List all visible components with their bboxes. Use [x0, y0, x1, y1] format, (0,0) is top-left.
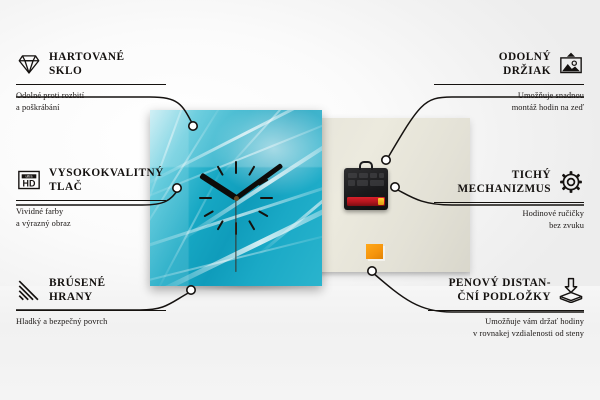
feature-title: VYSOKOKVALITNÝ TLAČ: [49, 166, 164, 195]
title-line-1: VYSOKOKVALITNÝ: [49, 166, 164, 180]
title-line-2: TLAČ: [49, 180, 164, 194]
divider: [16, 200, 166, 201]
hd-label: HD: [23, 179, 36, 189]
feature-header: HARTOVANÉ SKLO: [16, 50, 166, 79]
feature-title: TICHÝ MECHANIZMUS: [458, 168, 551, 197]
feature-header: BRÚSENÉ HRANY: [16, 276, 166, 305]
feature-description: Umožňuje vám držať hodiny v rovnakej vzd…: [428, 316, 584, 340]
title-line-1: ODOLNÝ: [499, 50, 551, 64]
desc-line-1: Umožňuje vám držať hodiny: [428, 316, 584, 328]
mechanism-hook-icon: [359, 161, 373, 170]
title-line-2: HRANY: [49, 290, 106, 304]
desc-line-1: Vividné farby: [16, 206, 166, 218]
foam-spacer-pad: [366, 244, 383, 259]
feature-title: ODOLNÝ DRŽIAK: [499, 50, 551, 79]
infographic-stage: HARTOVANÉ SKLO Odolné proti rozbití a po…: [0, 0, 600, 400]
feature-silent-mechanism: TICHÝ MECHANIZMUS Hodinové ručičky bez z…: [434, 168, 584, 232]
beveled-edge-icon: [16, 277, 42, 303]
diamond-icon: [16, 51, 42, 77]
desc-line-1: Odolné proti rozbití: [16, 90, 166, 102]
title-line-2: ČNÍ PODLOŽKY: [449, 290, 551, 304]
gear-icon: [558, 169, 584, 195]
desc-line-1: Hodinové ručičky: [434, 208, 584, 220]
desc-line-2: a výrazný obraz: [16, 218, 166, 230]
clock-dial: [150, 110, 322, 286]
divider: [428, 310, 584, 311]
desc-line-2: bez zvuku: [434, 220, 584, 232]
desc-line-2: v rovnakej vzdialenosti od steny: [428, 328, 584, 340]
minute-hand: [235, 163, 283, 200]
desc-line-1: Umožňuje snadnou: [434, 90, 584, 102]
feature-title: HARTOVANÉ SKLO: [49, 50, 124, 79]
feature-title: PENOVÝ DISTAN- ČNÍ PODLOŽKY: [449, 276, 551, 305]
desc-line-1: Hladký a bezpečný povrch: [16, 316, 166, 328]
quartz-clock-mechanism: [344, 168, 388, 210]
feature-header: ultra HD VYSOKOKVALITNÝ TLAČ: [16, 166, 166, 195]
mechanism-housing-detail: [348, 173, 384, 191]
divider: [434, 202, 584, 203]
desc-line-2: montáž hodin na zeď: [434, 102, 584, 114]
feature-description: Vividné farby a výrazný obraz: [16, 206, 166, 230]
title-line-1: PENOVÝ DISTAN-: [449, 276, 551, 290]
feature-description: Hladký a bezpečný povrch: [16, 316, 166, 328]
ultra-hd-icon: ultra HD: [16, 167, 42, 193]
foam-pad-arrow-icon: [558, 277, 584, 303]
divider: [434, 84, 584, 85]
feature-description: Odolné proti rozbití a poškrábání: [16, 90, 166, 114]
title-line-1: BRÚSENÉ: [49, 276, 106, 290]
title-line-1: TICHÝ: [458, 168, 551, 182]
title-line-2: MECHANIZMUS: [458, 182, 551, 196]
title-line-2: SKLO: [49, 64, 124, 78]
feature-tempered-glass: HARTOVANÉ SKLO Odolné proti rozbití a po…: [16, 50, 166, 114]
feature-header: ODOLNÝ DRŽIAK: [434, 50, 584, 79]
title-line-2: DRŽIAK: [499, 64, 551, 78]
clock-center-pin: [234, 196, 239, 201]
divider: [16, 84, 166, 85]
battery: [347, 197, 385, 206]
feature-header: TICHÝ MECHANIZMUS: [434, 168, 584, 197]
feature-description: Hodinové ručičky bez zvuku: [434, 208, 584, 232]
feature-high-quality-print: ultra HD VYSOKOKVALITNÝ TLAČ Vividné far…: [16, 166, 166, 230]
divider: [16, 310, 166, 311]
picture-hanger-icon: [558, 51, 584, 77]
feature-title: BRÚSENÉ HRANY: [49, 276, 106, 305]
desc-line-2: a poškrábání: [16, 102, 166, 114]
feature-description: Umožňuje snadnou montáž hodin na zeď: [434, 90, 584, 114]
feature-header: PENOVÝ DISTAN- ČNÍ PODLOŽKY: [428, 276, 584, 305]
feature-foam-spacers: PENOVÝ DISTAN- ČNÍ PODLOŽKY Umožňuje vám…: [428, 276, 584, 340]
square-glass-wall-clock: [150, 110, 322, 286]
feature-polished-edges: BRÚSENÉ HRANY Hladký a bezpečný povrch: [16, 276, 166, 328]
title-line-1: HARTOVANÉ: [49, 50, 124, 64]
feature-durable-hanger: ODOLNÝ DRŽIAK Umožňuje snadnou montáž ho…: [434, 50, 584, 114]
